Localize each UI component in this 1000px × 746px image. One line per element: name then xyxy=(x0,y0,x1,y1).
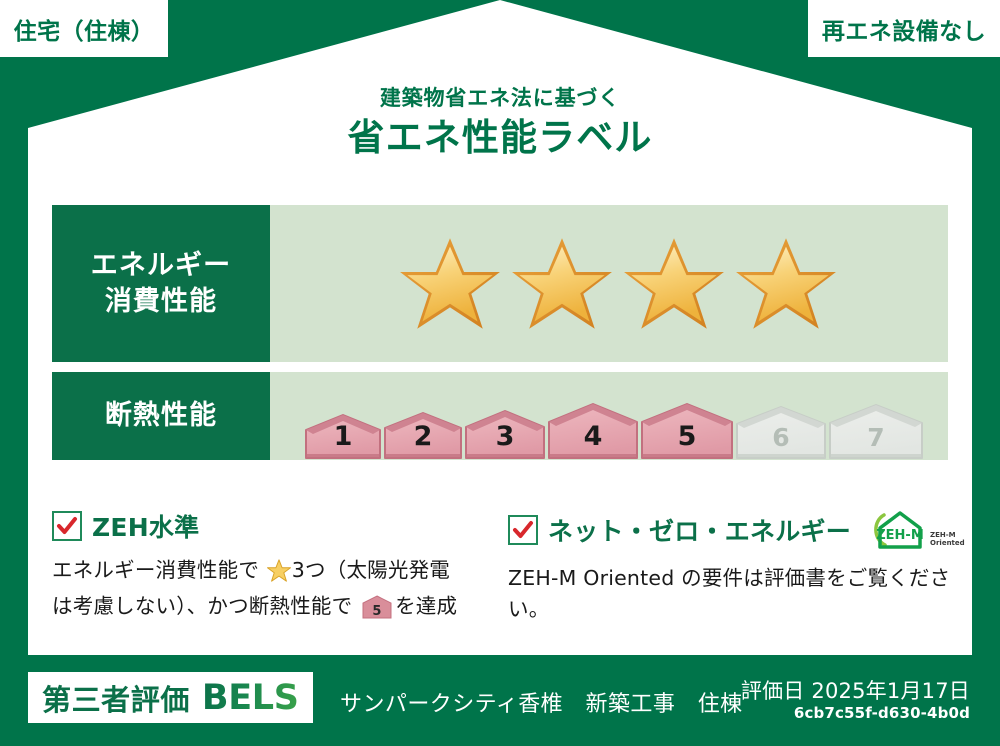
energy-label-line2: 消費性能 xyxy=(105,284,217,319)
label-footer: 第三者評価 BELS サンパークシティ香椎 新築工事 住棟 評価日 2025年1… xyxy=(0,655,1000,746)
zeh-body-part4: を達成 xyxy=(395,594,457,618)
inline-star-icon xyxy=(260,563,291,587)
insulation-grade-2: 2 xyxy=(383,412,463,460)
star-rating xyxy=(270,205,948,362)
insulation-grade-3: 3 xyxy=(464,410,546,460)
insulation-grade-4: 4 xyxy=(547,403,639,460)
insulation-grade-5: 5 xyxy=(640,403,734,460)
zeh-claim-body: エネルギー消費性能で 3つ（太陽光発電 は考慮しない）、かつ断熱性能で 5 を達… xyxy=(52,555,492,628)
energy-consumption-label: エネルギー 消費性能 xyxy=(52,205,270,362)
house-shape-icon xyxy=(304,414,382,460)
energy-performance-label: 住宅（住棟） 再エネ設備なし 建築物省エネ法に基づく 省エネ性能ラベル エネルギ… xyxy=(0,0,1000,746)
zehm-claim-title: ネット・ゼロ・エネルギー xyxy=(548,512,851,548)
house-shape-icon xyxy=(735,406,827,460)
insulation-grade-scale: 1234567 xyxy=(304,403,924,460)
bels-japanese-text: 第三者評価 xyxy=(42,677,190,719)
zeh-m-logo-caption: ZEH-M Oriented xyxy=(930,532,965,552)
zeh-checkbox xyxy=(52,511,82,541)
evaluation-id: 6cb7c55f-d630-4b0d xyxy=(794,704,970,722)
star-icon xyxy=(510,234,614,333)
zehm-claim-body: ZEH-M Oriented の要件は評価書をご覧ください。 xyxy=(508,563,958,625)
house-shape-icon xyxy=(383,412,463,460)
tag-building-type: 住宅（住棟） xyxy=(0,0,168,57)
zeh-m-logo-text: ZEH-M xyxy=(876,528,924,543)
insulation-grade-1: 1 xyxy=(304,414,382,460)
zeh-body-part3: は考慮しない）、かつ断熱性能で xyxy=(52,594,352,618)
zeh-standard-claim: ZEH水準 エネルギー消費性能で 3つ（太陽光発電 は考慮しない）、かつ断熱性能… xyxy=(52,508,492,628)
inline-house-grade-icon: 5 xyxy=(355,600,392,624)
insulation-grade-6: 6 xyxy=(735,406,827,460)
insulation-performance-label: 断熱性能 xyxy=(52,372,270,460)
energy-consumption-row: エネルギー 消費性能 xyxy=(52,205,948,362)
tag-renewable-energy: 再エネ設備なし xyxy=(808,0,1000,57)
zeh-body-part2: 3つ（太陽光発電 xyxy=(292,558,450,582)
bels-logo-text: BELS xyxy=(202,678,299,718)
zeh-claim-title: ZEH水準 xyxy=(92,508,199,544)
evaluation-date: 評価日 2025年1月17日 xyxy=(741,675,970,705)
inline-house-number: 5 xyxy=(372,604,381,619)
insulation-performance-row: 断熱性能 1234567 xyxy=(52,372,948,460)
energy-label-line1: エネルギー xyxy=(91,248,231,283)
insulation-grade-7: 7 xyxy=(828,404,924,460)
zeh-m-oriented-logo: ZEH-M ZEH-M Oriented xyxy=(869,508,965,552)
net-zero-energy-claim: ネット・ゼロ・エネルギー ZEH-M ZEH-M Oriented ZEH-M … xyxy=(508,508,958,625)
zeh-body-part1: エネルギー消費性能で xyxy=(52,558,259,582)
building-name: サンパークシティ香椎 新築工事 住棟 xyxy=(340,686,743,718)
house-shape-icon xyxy=(464,410,546,460)
house-shape-icon xyxy=(828,404,924,460)
bels-badge: 第三者評価 BELS xyxy=(28,672,313,723)
star-icon xyxy=(398,234,502,333)
house-shape-icon xyxy=(547,403,639,460)
insulation-label-text: 断熱性能 xyxy=(105,398,217,433)
zeh-m-caption-line2: Oriented xyxy=(930,539,965,547)
star-icon xyxy=(734,234,838,333)
star-icon xyxy=(622,234,726,333)
zehm-checkbox xyxy=(508,515,538,545)
house-shape-icon xyxy=(640,403,734,460)
